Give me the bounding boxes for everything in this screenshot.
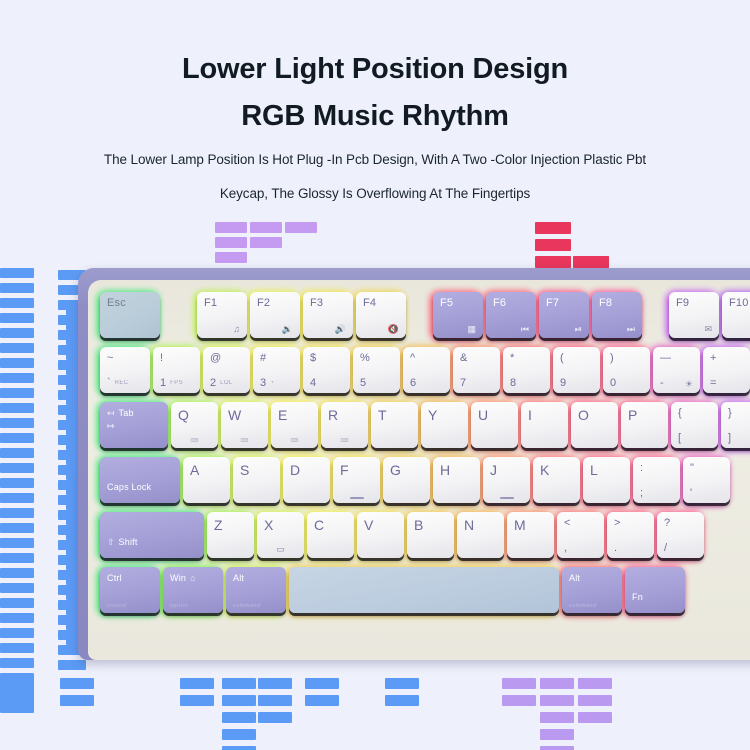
key-legend-upper: ^: [410, 353, 443, 364]
key-j[interactable]: J: [483, 457, 530, 503]
eq-bar-blue-left: [0, 658, 34, 668]
key-icon: ▦: [467, 325, 476, 334]
key-key-3[interactable]: #3◔: [253, 347, 300, 393]
key-legend-upper: <: [564, 518, 597, 529]
key-legend: Alt: [233, 573, 244, 583]
eq-bar-blue-bottom: [0, 695, 34, 706]
key-icon: ✉: [704, 325, 712, 334]
key-h[interactable]: H: [433, 457, 480, 503]
key-legend-lower-row: 0: [610, 378, 643, 389]
qwerty-row: ↤Tab↦Q⌨W⌨E⌨R⌨TYUIOP{[}]: [100, 402, 750, 454]
key-f10[interactable]: F10: [722, 292, 750, 338]
eq-bar-red-top: [535, 239, 571, 251]
key-legend-upper: :: [640, 463, 673, 474]
eq-bar-blue-bottom: [222, 729, 256, 740]
key-legend-upper: Esc: [107, 298, 153, 309]
key-key-1[interactable]: !1FPS: [153, 347, 200, 393]
key-legend-lower: ]: [728, 433, 731, 444]
key-sub-legend: ⌨: [328, 438, 361, 444]
key-v[interactable]: V: [357, 512, 404, 558]
eq-bar-purple-bottom: [540, 695, 574, 706]
key-legend: R: [328, 408, 361, 422]
key-legend: A: [190, 463, 223, 477]
key-i[interactable]: I: [521, 402, 568, 448]
key-esc[interactable]: Esc: [100, 292, 160, 338]
key-legend-lower: 5: [360, 378, 366, 389]
eq-bar-blue-left: [0, 538, 34, 548]
key-caps-lock[interactable]: Caps Lock: [100, 457, 180, 503]
eq-bar-red-top: [535, 256, 571, 268]
key-legend: F: [340, 463, 373, 477]
eq-bar-blue-bottom: [222, 678, 256, 689]
key-group: Caps LockASDFGHJKL:;"': [100, 457, 733, 503]
key-group: ↤Tab↦Q⌨W⌨E⌨R⌨TYUIOP{[}]: [100, 402, 750, 448]
eq-bar-blue-left: [0, 463, 34, 473]
key-f6[interactable]: F6⏮: [486, 292, 536, 338]
key-spacer: [163, 292, 197, 338]
key-sub-legend: ⌨: [278, 438, 311, 444]
key-label-row: ⇧Shift: [107, 537, 197, 547]
key-legend: X: [264, 518, 297, 532]
eq-bar-purple-bottom: [578, 678, 612, 689]
key-legend-lower-row: 2LOL: [210, 378, 243, 389]
eq-bar-blue-left: [0, 553, 34, 563]
eq-bar-blue-bottom: [222, 712, 256, 723]
key-legend: O: [578, 408, 611, 422]
key-tab[interactable]: ↤Tab↦: [100, 402, 168, 448]
key-legend-lower-row: 7: [460, 378, 493, 389]
key-sub-legend: control: [107, 603, 153, 609]
eq-bar-blue-left: [0, 613, 34, 623]
key-shift-left[interactable]: ⇧Shift: [100, 512, 204, 558]
key-legend: Z: [214, 518, 247, 532]
key-l[interactable]: L: [583, 457, 630, 503]
key-legend: Tab: [119, 408, 134, 418]
key-f8[interactable]: F8⏭: [592, 292, 642, 338]
eq-bar-blue-bottom: [258, 695, 292, 706]
eq-bar-blue-left: [0, 583, 34, 593]
key-icon: 🔇: [388, 325, 399, 334]
key-lbracket[interactable]: {[: [671, 402, 718, 448]
key-legend: W: [228, 408, 261, 422]
key-legend-lower-row: 4: [310, 378, 343, 389]
key-legend-lower: 7: [460, 378, 466, 389]
key-legend-lower-row: ]: [728, 433, 750, 444]
key-sub-legend: command: [233, 603, 279, 609]
eq-bar-blue-bottom: [60, 695, 94, 706]
key-c[interactable]: C: [307, 512, 354, 558]
key-legend-lower-row: [: [678, 433, 711, 444]
eq-bar-blue-left: [0, 418, 34, 428]
eq-bar-red-top: [535, 222, 571, 234]
eq-bar-purple-top: [250, 237, 282, 248]
eq-bar-blue-left: [58, 660, 86, 670]
function-row: EscF1♫F2🔉F3🔊F4🔇F5▦F6⏮F7⏯F8⏭F9✉F10: [100, 292, 750, 344]
key-legend: F2: [257, 298, 293, 309]
key-fn[interactable]: Fn: [625, 567, 685, 613]
key-key-8[interactable]: *8: [503, 347, 550, 393]
keyboard-plate: EscF1♫F2🔉F3🔊F4🔇F5▦F6⏮F7⏯F8⏭F9✉F10~`REC!1…: [88, 280, 750, 660]
key-label-row: Alt: [233, 573, 279, 583]
key-legend: D: [290, 463, 323, 477]
key-semicolon[interactable]: :;: [633, 457, 680, 503]
key-legend: Ctrl: [107, 573, 122, 583]
shift-row: ⇧ShiftZX▭CVBNM<,>.?/: [100, 512, 750, 564]
eq-bar-blue-left: [0, 448, 34, 458]
key-icon: ▭: [276, 545, 285, 554]
eq-bar-blue-left: [0, 508, 34, 518]
key-rbracket[interactable]: }]: [721, 402, 750, 448]
eq-bar-blue-left: [0, 268, 34, 278]
key-legend-lower-row: ': [690, 488, 723, 499]
key-w[interactable]: W⌨: [221, 402, 268, 448]
key-f3[interactable]: F3🔊: [303, 292, 353, 338]
key-t[interactable]: T: [371, 402, 418, 448]
key-legend: C: [314, 518, 347, 532]
eq-bar-blue-left: [0, 328, 34, 338]
key-spacer: [409, 292, 433, 338]
key-legend-upper: %: [360, 353, 393, 364]
product-promo-page: Lower Light Position Design RGB Music Rh…: [0, 0, 750, 750]
key-sub-legend: option: [170, 603, 216, 609]
key-q[interactable]: Q⌨: [171, 402, 218, 448]
eq-bar-blue-left: [0, 433, 34, 443]
eq-bar-purple-bottom: [578, 712, 612, 723]
key-period[interactable]: >.: [607, 512, 654, 558]
homing-bar-icon: [350, 497, 364, 499]
key-legend: Win: [170, 573, 186, 583]
key-legend: Caps Lock: [107, 482, 151, 492]
key-legend-upper: &: [460, 353, 493, 364]
key-o[interactable]: O: [571, 402, 618, 448]
key-space[interactable]: [289, 567, 559, 613]
eq-bar-blue-left: [0, 478, 34, 488]
key-label-row: ↤Tab: [107, 408, 161, 418]
key-key-5[interactable]: %5: [353, 347, 400, 393]
key-legend: F5: [440, 298, 476, 309]
key-group: ~`REC!1FPS@2LOL#3◔$4%5^6&7*8(9)0—-☀+=: [100, 347, 750, 393]
key-legend-upper: @: [210, 353, 243, 364]
key-slash[interactable]: ?/: [657, 512, 704, 558]
key-legend: V: [364, 518, 397, 532]
eq-bar-purple-bottom: [578, 695, 612, 706]
eq-bar-blue-left: [0, 388, 34, 398]
modifier-row: CtrlcontrolWin⌂optionAltcommandAltcomman…: [100, 567, 750, 619]
eq-bar-blue-left: [0, 523, 34, 533]
eq-bar-purple-top: [250, 222, 282, 233]
key-key-6[interactable]: ^6: [403, 347, 450, 393]
key-d[interactable]: D: [283, 457, 330, 503]
key-legend-lower: .: [614, 543, 617, 554]
key-legend-lower: /: [664, 543, 667, 554]
eq-bar-blue-bottom: [222, 695, 256, 706]
key-legend-lower-row: 3◔: [260, 378, 293, 389]
eq-bar-blue-left: [0, 403, 34, 413]
key-p[interactable]: P: [621, 402, 668, 448]
eq-bar-purple-top: [215, 222, 247, 233]
key-sub-legend: FPS: [170, 378, 183, 389]
key-key-7[interactable]: &7: [453, 347, 500, 393]
eq-bar-blue-bottom: [0, 678, 34, 689]
eq-bar-blue-left: [0, 598, 34, 608]
key-comma[interactable]: <,: [557, 512, 604, 558]
key-legend-lower: `: [107, 378, 111, 389]
key-ctrl-left[interactable]: Ctrlcontrol: [100, 567, 160, 613]
key-legend-lower: -: [660, 378, 664, 389]
key-group: ⇧ShiftZX▭CVBNM<,>.?/: [100, 512, 707, 558]
key-legend: F4: [363, 298, 399, 309]
key-legend-upper: +: [710, 353, 743, 364]
key-icon: ⏮: [521, 325, 529, 334]
keyboard-rows: EscF1♫F2🔉F3🔊F4🔇F5▦F6⏮F7⏯F8⏭F9✉F10~`REC!1…: [100, 292, 750, 619]
key-legend: S: [240, 463, 273, 477]
key-legend-lower-row: 6: [410, 378, 443, 389]
key-legend: Y: [428, 408, 461, 422]
key-legend-lower-row: `REC: [107, 378, 143, 389]
eq-bar-blue-bottom: [180, 678, 214, 689]
eq-bar-blue-bottom: [305, 695, 339, 706]
eq-bar-blue-left: [0, 568, 34, 578]
key-legend-lower: 2: [210, 378, 216, 389]
key-legend: L: [590, 463, 623, 477]
key-sub-legend: ⌨: [178, 438, 211, 444]
key-sub-legend: LOL: [220, 378, 233, 389]
eq-bar-blue-left: [0, 313, 34, 323]
key-f7[interactable]: F7⏯: [539, 292, 589, 338]
key-legend: F6: [493, 298, 529, 309]
key-legend-upper: ": [690, 463, 723, 474]
eq-bar-blue-left: [0, 298, 34, 308]
key-legend: F3: [310, 298, 346, 309]
key-legend-lower: 1: [160, 378, 166, 389]
eq-bar-purple-top: [215, 252, 247, 263]
eq-bar-blue-left: [0, 628, 34, 638]
key-legend-upper: !: [160, 353, 193, 364]
key-n[interactable]: N: [457, 512, 504, 558]
key-legend: E: [278, 408, 311, 422]
key-legend: T: [378, 408, 411, 422]
key-glyph-icon-lower: ↦: [107, 422, 161, 431]
key-r[interactable]: R⌨: [321, 402, 368, 448]
key-legend-lower: ': [690, 488, 692, 499]
key-legend-lower: 4: [310, 378, 316, 389]
key-glyph-icon: ↤: [107, 409, 115, 418]
key-s[interactable]: S: [233, 457, 280, 503]
key-legend-lower: ;: [640, 488, 643, 499]
key-alt-left[interactable]: Altcommand: [226, 567, 286, 613]
eq-bar-blue-bottom: [180, 695, 214, 706]
key-key-0[interactable]: )0: [603, 347, 650, 393]
key-legend-upper: >: [614, 518, 647, 529]
key-b[interactable]: B: [407, 512, 454, 558]
key-key-9[interactable]: (9: [553, 347, 600, 393]
key-equal[interactable]: +=: [703, 347, 750, 393]
key-alt-right[interactable]: Altcommand: [562, 567, 622, 613]
key-g[interactable]: G: [383, 457, 430, 503]
homing-bar-icon: [500, 497, 514, 499]
key-icon: 🔉: [282, 325, 293, 334]
key-legend: K: [540, 463, 573, 477]
subtitle-line-1: The Lower Lamp Position Is Hot Plug -In …: [0, 153, 750, 167]
eq-bar-purple-bottom: [502, 695, 536, 706]
key-legend-upper: ~: [107, 353, 143, 364]
key-legend-upper: —: [660, 353, 693, 364]
key-f9[interactable]: F9✉: [669, 292, 719, 338]
key-a[interactable]: A: [183, 457, 230, 503]
subtitle-line-2: Keycap, The Glossy Is Overflowing At The…: [0, 187, 750, 201]
key-f4[interactable]: F4🔇: [356, 292, 406, 338]
key-legend: P: [628, 408, 661, 422]
key-sub-legend: ◔: [270, 378, 274, 389]
eq-bar-blue-left: [0, 358, 34, 368]
eq-bar-blue-left: [0, 493, 34, 503]
key-legend-upper: {: [678, 408, 711, 419]
key-icon: ☀: [685, 380, 693, 389]
eq-bar-blue-bottom: [258, 678, 292, 689]
key-legend: U: [478, 408, 511, 422]
key-key-2[interactable]: @2LOL: [203, 347, 250, 393]
key-icon: ⏭: [627, 325, 635, 334]
key-glyph-icon: ⇧: [107, 538, 115, 547]
key-legend: N: [464, 518, 497, 532]
key-win[interactable]: Win⌂option: [163, 567, 223, 613]
key-z[interactable]: Z: [207, 512, 254, 558]
eq-bar-blue-bottom: [385, 678, 419, 689]
key-icon: ⏯: [575, 325, 582, 334]
key-legend-lower: 0: [610, 378, 616, 389]
key-label-row: Fn: [632, 592, 678, 602]
key-legend-lower: 3: [260, 378, 266, 389]
key-icon: 🔊: [335, 325, 346, 334]
key-group: EscF1♫F2🔉F3🔊F4🔇F5▦F6⏮F7⏯F8⏭F9✉F10: [100, 292, 750, 338]
key-legend-lower-row: =: [710, 378, 743, 389]
key-x[interactable]: X▭: [257, 512, 304, 558]
key-legend: Fn: [632, 592, 643, 602]
eq-bar-blue-left: [0, 643, 34, 653]
key-sub-legend: REC: [115, 378, 129, 389]
header: Lower Light Position Design RGB Music Rh…: [0, 0, 750, 200]
key-legend: B: [414, 518, 447, 532]
key-e[interactable]: E⌨: [271, 402, 318, 448]
key-legend: Alt: [569, 573, 580, 583]
eq-bar-purple-bottom: [540, 746, 574, 750]
key-legend-lower-row: .: [614, 543, 647, 554]
eq-bar-blue-bottom: [258, 712, 292, 723]
eq-bar-blue-left: [0, 343, 34, 353]
key-backtick[interactable]: ~`REC: [100, 347, 150, 393]
eq-bar-purple-bottom: [502, 678, 536, 689]
eq-bar-purple-top: [215, 237, 247, 248]
home-row: Caps LockASDFGHJKL:;"': [100, 457, 750, 509]
key-legend-upper: #: [260, 353, 293, 364]
key-icon: ⌂: [190, 574, 195, 583]
key-sub-legend: ⌨: [228, 438, 261, 444]
key-f[interactable]: F: [333, 457, 380, 503]
key-legend: Shift: [119, 537, 138, 547]
key-legend-lower-row: 9: [560, 378, 593, 389]
key-legend: F1: [204, 298, 240, 309]
key-legend: F9: [676, 298, 712, 309]
key-k[interactable]: K: [533, 457, 580, 503]
key-u[interactable]: U: [471, 402, 518, 448]
eq-bar-blue-bottom: [385, 695, 419, 706]
key-f1[interactable]: F1♫: [197, 292, 247, 338]
key-legend-upper: *: [510, 353, 543, 364]
key-label-row: Caps Lock: [107, 482, 173, 492]
key-sub-legend: command: [569, 603, 615, 609]
key-legend-lower-row: 1FPS: [160, 378, 193, 389]
key-label-row: Ctrl: [107, 573, 153, 583]
key-legend-lower-row: 8: [510, 378, 543, 389]
key-legend-lower-row: ,: [564, 543, 597, 554]
eq-bar-purple-top: [285, 222, 317, 233]
key-spacer: [645, 292, 669, 338]
key-legend-lower: [: [678, 433, 681, 444]
key-key-4[interactable]: $4: [303, 347, 350, 393]
key-legend-upper: F10: [729, 298, 750, 309]
key-legend-upper: ?: [664, 518, 697, 529]
page-title-line-1: Lower Light Position Design: [0, 55, 750, 84]
key-legend-lower-row: ;: [640, 488, 673, 499]
eq-bar-blue-bottom: [305, 678, 339, 689]
eq-bar-blue-bottom: [60, 678, 94, 689]
key-group: CtrlcontrolWin⌂optionAltcommandAltcomman…: [100, 567, 688, 613]
keyboard-case: EscF1♫F2🔉F3🔊F4🔇F5▦F6⏮F7⏯F8⏭F9✉F10~`REC!1…: [78, 268, 750, 660]
key-y[interactable]: Y: [421, 402, 468, 448]
key-legend-lower: 8: [510, 378, 516, 389]
key-legend-lower-row: 5: [360, 378, 393, 389]
eq-bar-blue-left: [0, 373, 34, 383]
key-legend-lower: 6: [410, 378, 416, 389]
key-legend: Q: [178, 408, 211, 422]
key-legend: F8: [599, 298, 635, 309]
page-title-line-2: RGB Music Rhythm: [0, 102, 750, 131]
key-legend-lower-row: /: [664, 543, 697, 554]
eq-bar-purple-bottom: [540, 678, 574, 689]
key-legend-upper: (: [560, 353, 593, 364]
keyboard: EscF1♫F2🔉F3🔊F4🔇F5▦F6⏮F7⏯F8⏭F9✉F10~`REC!1…: [78, 268, 750, 660]
key-icon: ♫: [233, 325, 240, 334]
key-legend: F7: [546, 298, 582, 309]
key-legend-lower-row: -☀: [660, 378, 693, 389]
key-label-row: Alt: [569, 573, 615, 583]
eq-bar-red-top: [573, 256, 609, 268]
key-m[interactable]: M: [507, 512, 554, 558]
key-legend-upper: $: [310, 353, 343, 364]
key-label-row: Win⌂: [170, 573, 216, 583]
key-legend: I: [528, 408, 561, 422]
key-quote[interactable]: "': [683, 457, 730, 503]
key-legend-lower: =: [710, 378, 716, 389]
eq-bar-blue-left: [0, 283, 34, 293]
key-legend: G: [390, 463, 423, 477]
key-f5[interactable]: F5▦: [433, 292, 483, 338]
key-minus[interactable]: —-☀: [653, 347, 700, 393]
key-f2[interactable]: F2🔉: [250, 292, 300, 338]
key-legend: J: [490, 463, 523, 477]
key-legend-upper: }: [728, 408, 750, 419]
key-legend-upper: ): [610, 353, 643, 364]
eq-bar-purple-bottom: [540, 729, 574, 740]
eq-bar-purple-bottom: [540, 712, 574, 723]
key-legend-lower: 9: [560, 378, 566, 389]
key-legend-lower: ,: [564, 543, 567, 554]
key-legend: H: [440, 463, 473, 477]
key-legend: M: [514, 518, 547, 532]
number-row: ~`REC!1FPS@2LOL#3◔$4%5^6&7*8(9)0—-☀+=: [100, 347, 750, 399]
eq-bar-blue-bottom: [222, 746, 256, 750]
